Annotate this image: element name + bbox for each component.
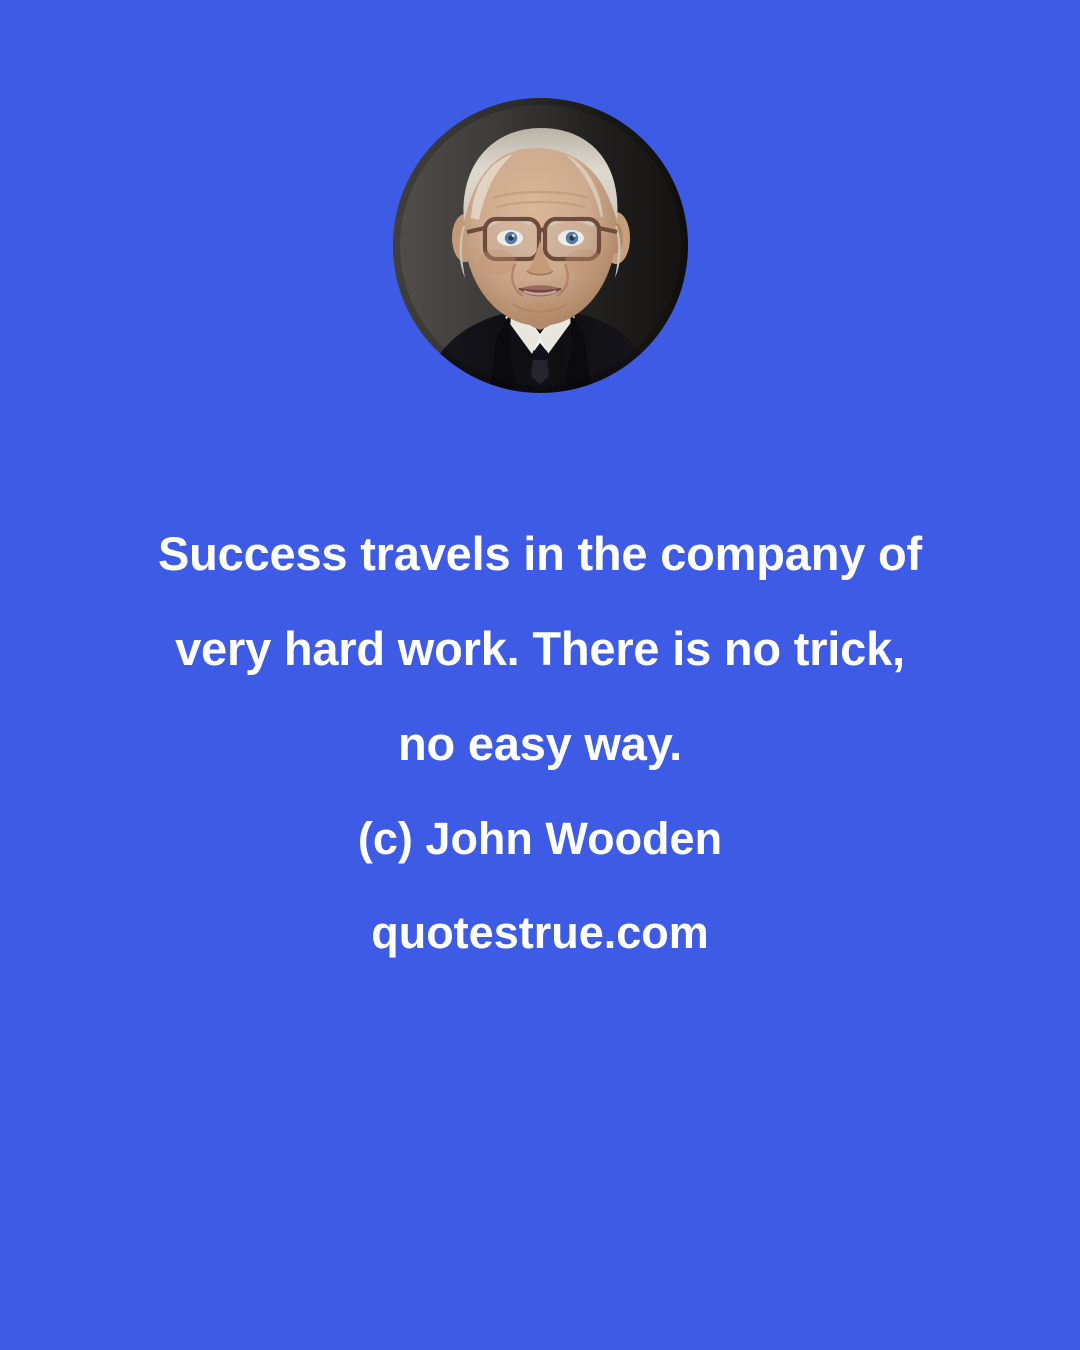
portrait-photo-icon [393,98,688,393]
source-website: quotestrue.com [90,902,990,964]
portrait-container [393,98,688,393]
quote-line-2: very hard work. There is no trick, [90,601,990,696]
quote-line-1: Success travels in the company of [90,506,990,601]
quote-card: Success travels in the company of very h… [0,0,1080,1350]
author-portrait-avatar [393,98,688,393]
quote-line-3: no easy way. [90,696,990,791]
attribution-block: (c) John Wooden quotestrue.com [90,808,990,964]
quote-author: (c) John Wooden [90,808,990,870]
quote-text-block: Success travels in the company of very h… [90,506,990,791]
